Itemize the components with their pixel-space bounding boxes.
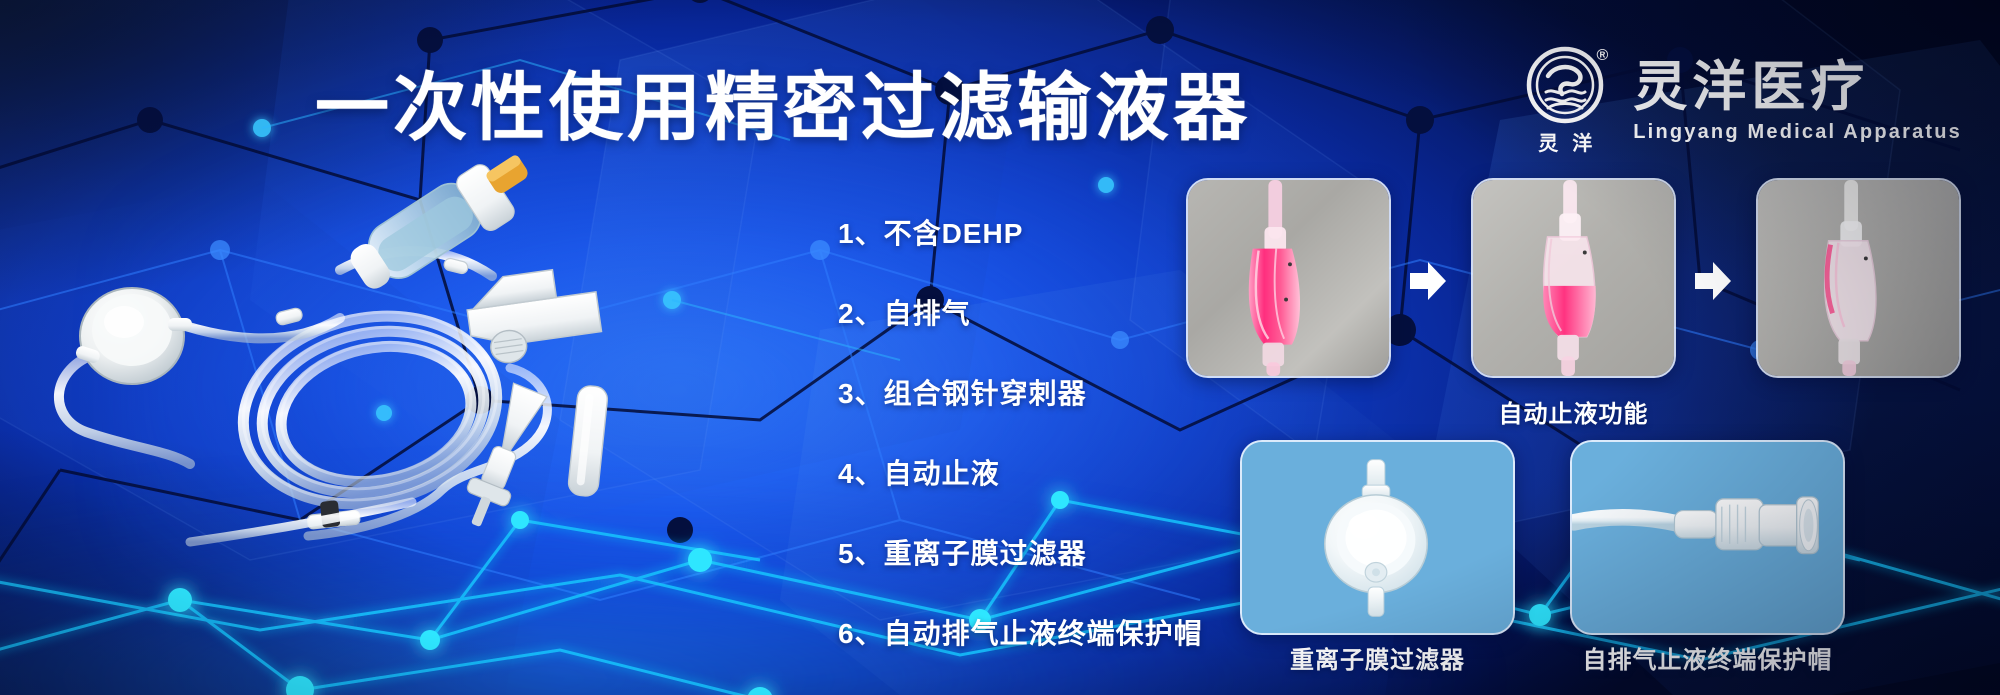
logo-emblem-subtext: 灵洋 — [1519, 127, 1611, 156]
feature-list: 1、不含DEHP 2、自排气 3、组合钢针穿刺器 4、自动止液 5、重离子膜过滤… — [838, 212, 1168, 652]
auto-stop-flow-sequence — [1186, 178, 1961, 378]
lingyang-circular-emblem-icon: ® — [1526, 46, 1604, 124]
feature-item: 6、自动排气止液终端保护帽 — [838, 612, 1168, 652]
brand-logo: ® 灵洋 灵洋医疗 Lingyang Medical Apparatus — [1519, 46, 1962, 156]
stop-flow-photo-2 — [1471, 178, 1676, 378]
end-cap-photo — [1570, 440, 1845, 635]
brand-name-en: Lingyang Medical Apparatus — [1633, 122, 1962, 142]
heavy-ion-filter-caption: 重离子膜过滤器 — [1216, 640, 1539, 675]
arrow-right-icon — [1693, 260, 1733, 302]
heavy-ion-filter-photo — [1240, 440, 1515, 635]
brand-name-cn: 灵洋医疗 — [1633, 60, 1962, 114]
product-banner: 一次性使用精密过滤输液器 ® 灵洋 灵洋医疗 Lingyang Medical … — [0, 0, 2000, 695]
feature-item: 5、重离子膜过滤器 — [838, 532, 1168, 572]
logo-emblem: ® 灵洋 — [1519, 46, 1611, 156]
feature-item: 2、自排气 — [838, 292, 1168, 332]
page-title: 一次性使用精密过滤输液器 — [315, 48, 1251, 155]
feature-item: 4、自动止液 — [838, 452, 1168, 492]
stop-flow-photo-3 — [1756, 178, 1961, 378]
arrow-right-icon — [1408, 260, 1448, 302]
component-photos-row: 重离子膜过滤器 自排气止液终端保护帽 — [1240, 440, 1965, 635]
feature-item: 3、组合钢针穿刺器 — [838, 372, 1168, 412]
stop-flow-photo-1 — [1186, 178, 1391, 378]
feature-item: 1、不含DEHP — [838, 212, 1168, 252]
auto-stop-flow-caption: 自动止液功能 — [1186, 394, 1961, 429]
main-product-photo — [40, 150, 680, 570]
end-cap-caption: 自排气止液终端保护帽 — [1546, 640, 1869, 675]
registered-trademark-icon: ® — [1596, 48, 1608, 64]
brand-name-block: 灵洋医疗 Lingyang Medical Apparatus — [1633, 60, 1962, 142]
